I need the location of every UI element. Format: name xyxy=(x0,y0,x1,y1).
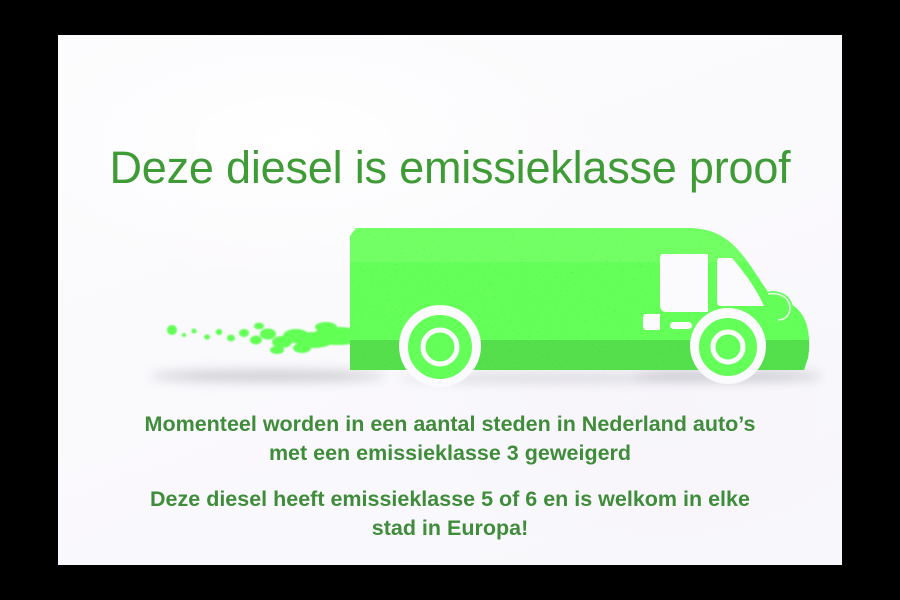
van-graphic xyxy=(68,190,832,425)
image-frame: Deze diesel is emissieklasse proof xyxy=(0,0,900,600)
van-illustration xyxy=(68,190,832,425)
compliance-notice: Deze diesel heeft emissieklasse 5 of 6 e… xyxy=(58,485,842,543)
compliance-notice-line-2: stad in Europa! xyxy=(58,514,842,543)
restriction-notice-line-1: Momenteel worden in een aantal steden in… xyxy=(58,410,842,439)
compliance-notice-line-1: Deze diesel heeft emissieklasse 5 of 6 e… xyxy=(58,485,842,514)
door-handle xyxy=(670,322,692,329)
front-wheel-tyre xyxy=(697,316,759,378)
exhaust-plume xyxy=(167,322,364,354)
rear-wheel-tyre xyxy=(406,313,474,381)
quarter-vent xyxy=(643,314,660,330)
restriction-notice: Momenteel worden in een aantal steden in… xyxy=(58,410,842,468)
restriction-notice-line-2: met een emissieklasse 3 geweigerd xyxy=(58,439,842,468)
side-window xyxy=(660,254,708,312)
page-title: Deze diesel is emissieklasse proof xyxy=(58,145,842,190)
poster-canvas: Deze diesel is emissieklasse proof xyxy=(58,35,842,565)
